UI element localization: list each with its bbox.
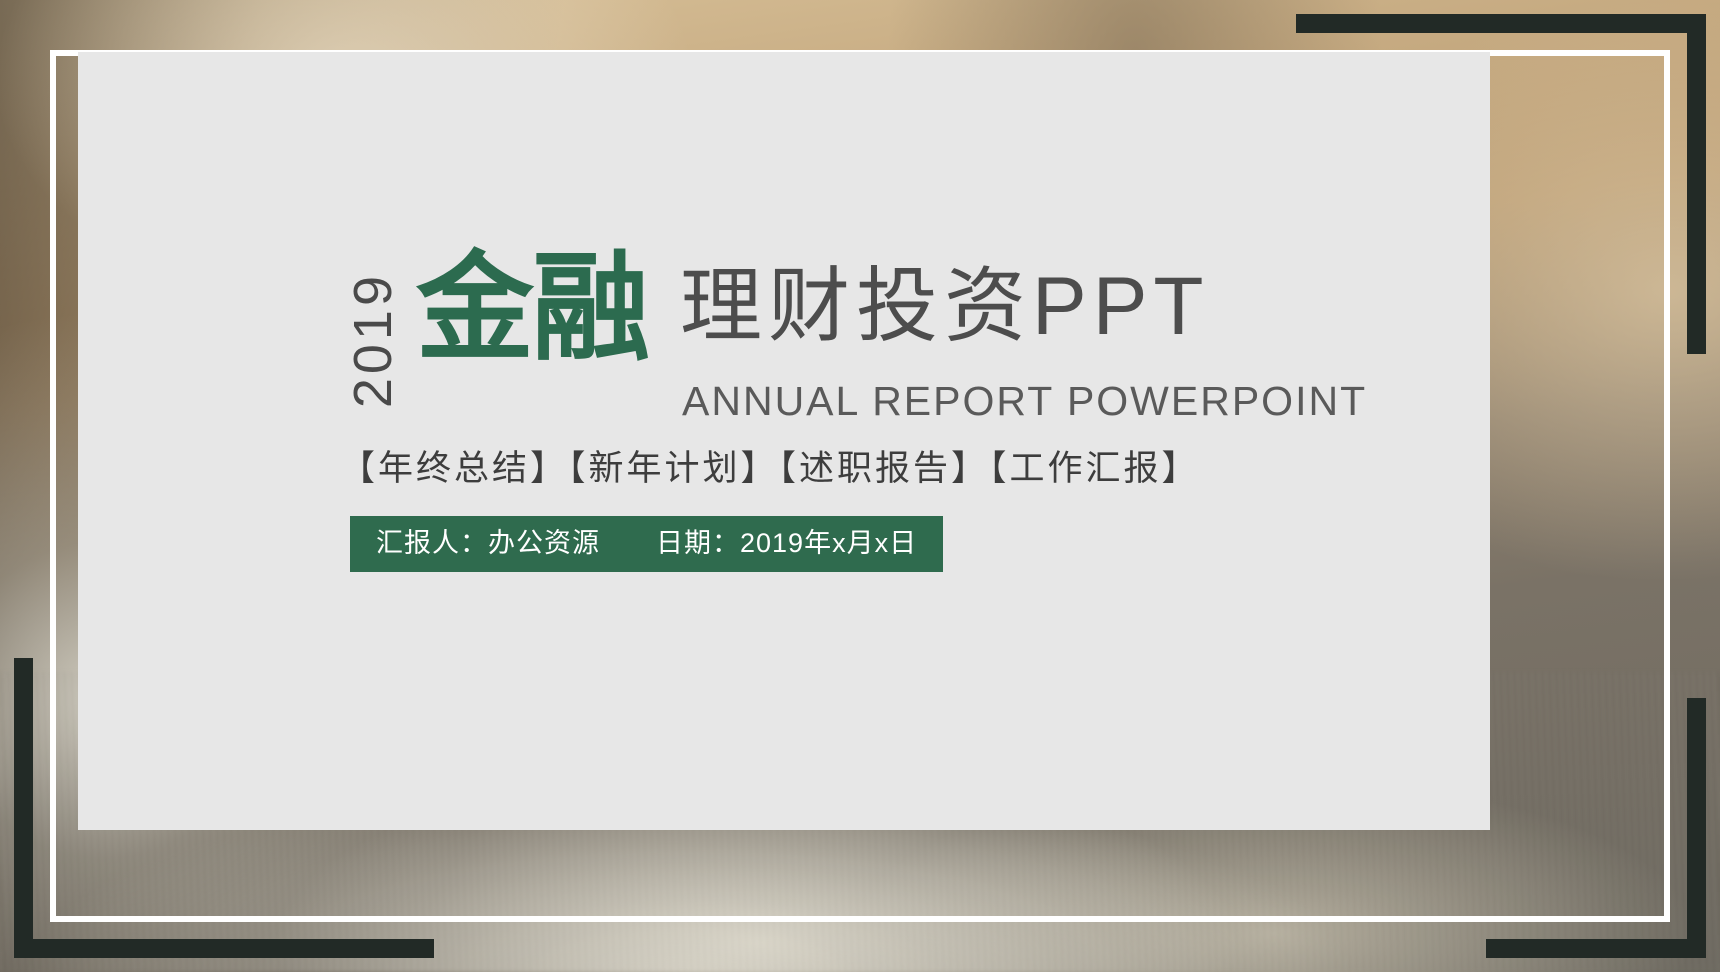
title-rest: 理财投资PPT (680, 266, 1209, 348)
title-highlight: 金融 (416, 243, 648, 375)
bracket-topics-line: 【年终总结】【新年计划】【述职报告】【工作汇报】 (340, 440, 1200, 491)
title-block: 2019 金融 理财投资PPT ANNUAL REPORT POWERPOINT… (348, 258, 1348, 388)
title-row: 2019 金融 理财投资PPT (348, 258, 1348, 388)
year-label: 2019 (346, 272, 400, 408)
presenter-badge: 汇报人：办公资源 日期：2019年x月x日 (350, 516, 943, 572)
title-main: 金融 (416, 250, 648, 368)
subtitle-english: ANNUAL REPORT POWERPOINT (682, 378, 1367, 425)
